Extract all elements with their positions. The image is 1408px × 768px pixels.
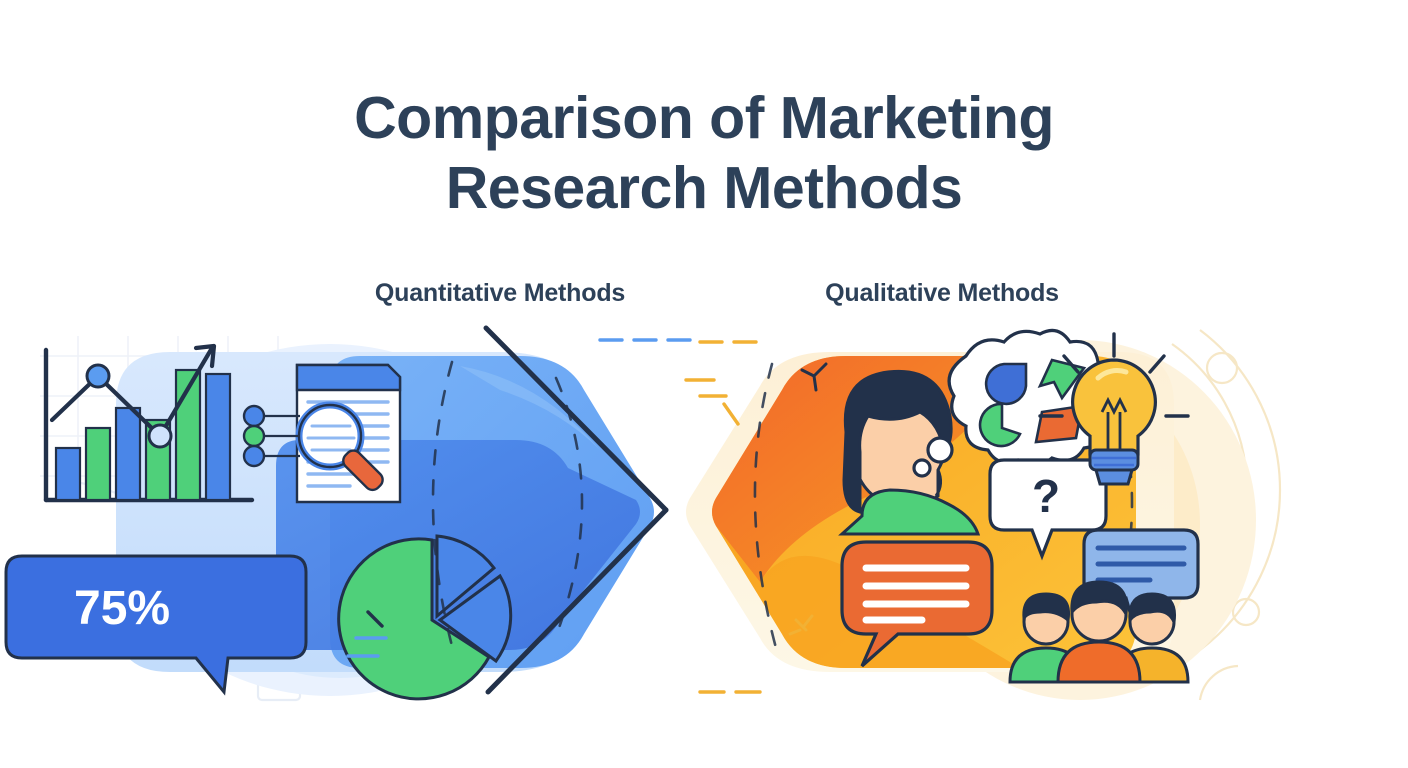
bar-1 <box>56 448 80 500</box>
trend-marker-1 <box>87 365 109 387</box>
people-group-icon <box>1010 582 1188 682</box>
trend-marker-2 <box>149 425 171 447</box>
section-heading-quantitative: Quantitative Methods <box>300 279 700 308</box>
bar-6 <box>206 374 230 500</box>
bar-2 <box>86 428 110 500</box>
title-line-2: Research Methods <box>0 154 1408 224</box>
checklist-dots <box>244 406 300 466</box>
bar-3 <box>116 408 140 500</box>
page-title: Comparison of Marketing Research Methods <box>0 84 1408 223</box>
section-heading-qualitative: Qualitative Methods <box>742 279 1142 308</box>
title-line-1: Comparison of Marketing <box>0 84 1408 154</box>
question-glyph: ? <box>1032 470 1060 522</box>
badge-value: 75% <box>74 582 170 635</box>
pie-chart <box>339 536 511 699</box>
illustration-area: 75% <box>0 320 1408 720</box>
shape-blue-droplet <box>986 364 1026 404</box>
infographic-canvas: Comparison of Marketing Research Methods… <box>0 0 1408 768</box>
